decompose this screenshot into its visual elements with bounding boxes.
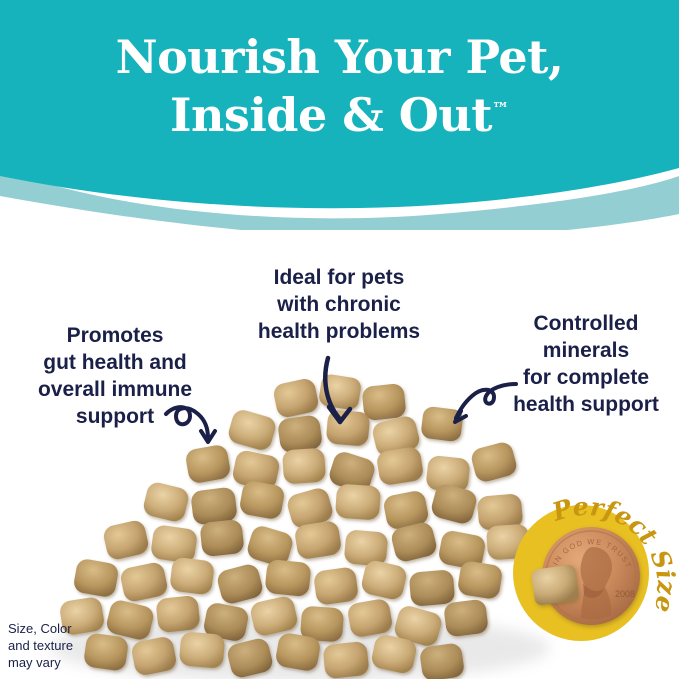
curved-arrow-down-icon bbox=[312, 354, 372, 430]
callout-left-line-2: gut health and bbox=[10, 349, 220, 376]
callout-chronic-health: Ideal for pets with chronic health probl… bbox=[238, 264, 440, 345]
headline-line-2: Inside & Out™ bbox=[0, 86, 679, 144]
perfect-size-badge-graphic: IN GOD WE TRUST 2008 Perfect Size! bbox=[505, 475, 679, 650]
disclaimer-line-1: Size, Color bbox=[8, 620, 128, 637]
header-banner: Nourish Your Pet, Inside & Out™ bbox=[0, 0, 679, 230]
callout-left-line-1: Promotes bbox=[10, 322, 220, 349]
disclaimer-line-3: may vary bbox=[8, 654, 128, 671]
callout-mid-line-1: Ideal for pets bbox=[238, 264, 440, 291]
callout-right-line-2: minerals bbox=[493, 337, 679, 364]
page-title: Nourish Your Pet, Inside & Out™ bbox=[0, 28, 679, 144]
curly-arrow-down-left-icon bbox=[446, 378, 522, 434]
coin-year-text: 2008 bbox=[615, 589, 635, 599]
callout-mid-line-2: with chronic bbox=[238, 291, 440, 318]
callout-mid-line-3: health problems bbox=[238, 318, 440, 345]
perfect-size-badge: IN GOD WE TRUST 2008 Perfect Size! bbox=[505, 475, 679, 650]
disclaimer-line-2: and texture bbox=[8, 637, 128, 654]
trademark-symbol: ™ bbox=[492, 100, 509, 120]
callout-right-line-1: Controlled bbox=[493, 310, 679, 337]
badge-kibble-piece bbox=[531, 564, 580, 606]
disclaimer-text: Size, Color and texture may vary bbox=[8, 620, 128, 671]
headline-line-2-text: Inside & Out bbox=[170, 88, 492, 142]
product-infographic: Nourish Your Pet, Inside & Out™ bbox=[0, 0, 679, 679]
curly-arrow-down-right-icon bbox=[160, 398, 240, 460]
headline-line-1: Nourish Your Pet, bbox=[0, 28, 679, 86]
